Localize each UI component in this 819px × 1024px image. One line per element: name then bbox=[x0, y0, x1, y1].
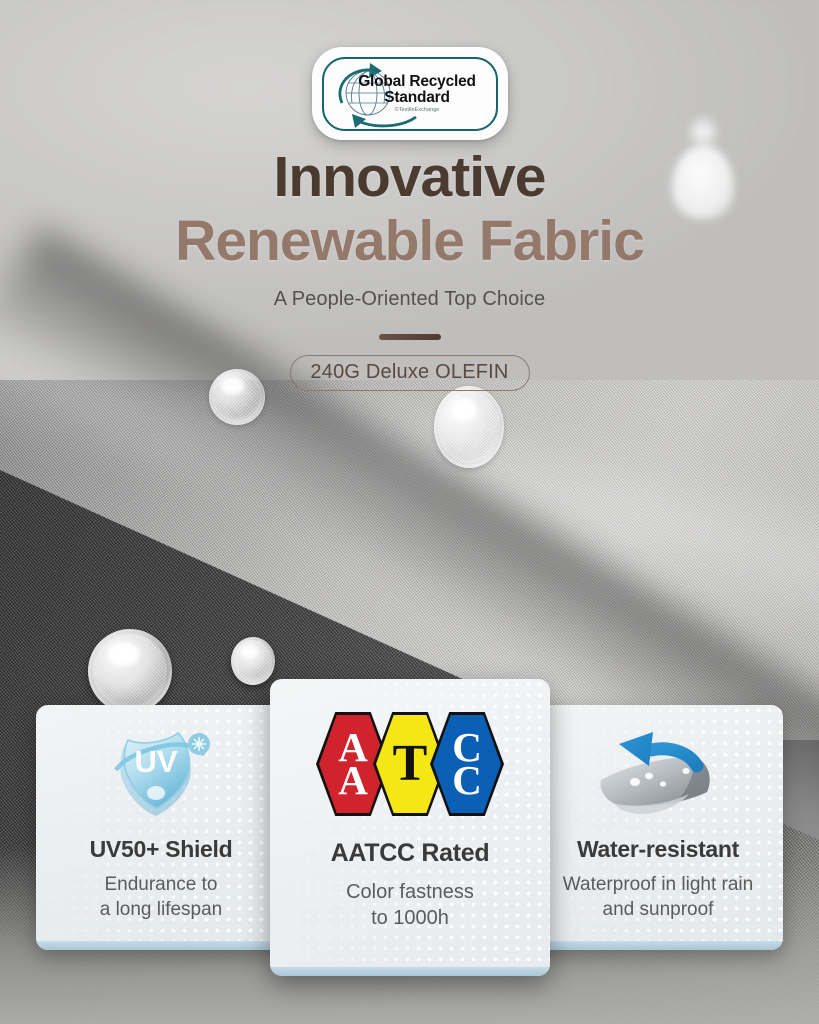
svg-text:UV: UV bbox=[134, 744, 177, 779]
feature-description: Waterproof in light rain and sunproof bbox=[563, 872, 753, 922]
product-feature-poster: Global Recycled Standard ©TextileExchang… bbox=[0, 0, 819, 1024]
grs-line-1: Global Recycled bbox=[358, 74, 476, 90]
grs-badge-text: Global Recycled Standard ©TextileExchang… bbox=[344, 74, 476, 113]
aatcc-letter: T bbox=[393, 743, 428, 785]
feature-desc-line-1: Waterproof in light rain bbox=[563, 872, 753, 897]
card-icon-area: UV bbox=[102, 711, 220, 836]
feature-card-water-resistant[interactable]: Water-resistant Waterproof in light rain… bbox=[533, 705, 783, 950]
card-accent-bar bbox=[36, 941, 286, 950]
feature-card-uv[interactable]: UV UV50+ Shield Endurance to a long life… bbox=[36, 705, 286, 950]
card-icon-area bbox=[591, 711, 725, 836]
grs-line-2: Standard bbox=[358, 90, 476, 106]
aatcc-letter: C bbox=[452, 764, 482, 797]
aatcc-logo-icon: A A T C C bbox=[316, 712, 504, 816]
feature-desc-line-2: to 1000h bbox=[346, 905, 474, 931]
card-accent-bar bbox=[270, 967, 550, 976]
aatcc-letter: A bbox=[338, 764, 368, 797]
uv-shield-icon: UV bbox=[102, 718, 220, 830]
feature-description: Endurance to a long lifespan bbox=[100, 872, 223, 922]
feature-description: Color fastness to 1000h bbox=[346, 879, 474, 932]
grs-owner-label: ©TextileExchange bbox=[358, 108, 476, 114]
feature-desc-line-2: a long lifespan bbox=[100, 897, 223, 922]
feature-card-aatcc[interactable]: A A T C C bbox=[270, 679, 550, 976]
feature-desc-line-1: Color fastness bbox=[346, 879, 474, 905]
card-icon-area: A A T C C bbox=[316, 689, 504, 839]
feature-desc-line-2: and sunproof bbox=[563, 897, 753, 922]
water-repellent-icon bbox=[591, 722, 725, 826]
feature-card-group: UV UV50+ Shield Endurance to a long life… bbox=[0, 0, 819, 1024]
aatcc-hex-blue: C C bbox=[430, 712, 504, 816]
card-accent-bar bbox=[533, 941, 783, 950]
feature-desc-line-1: Endurance to bbox=[100, 872, 223, 897]
feature-title: AATCC Rated bbox=[331, 839, 490, 868]
feature-title: UV50+ Shield bbox=[90, 836, 233, 863]
feature-title: Water-resistant bbox=[577, 836, 739, 863]
